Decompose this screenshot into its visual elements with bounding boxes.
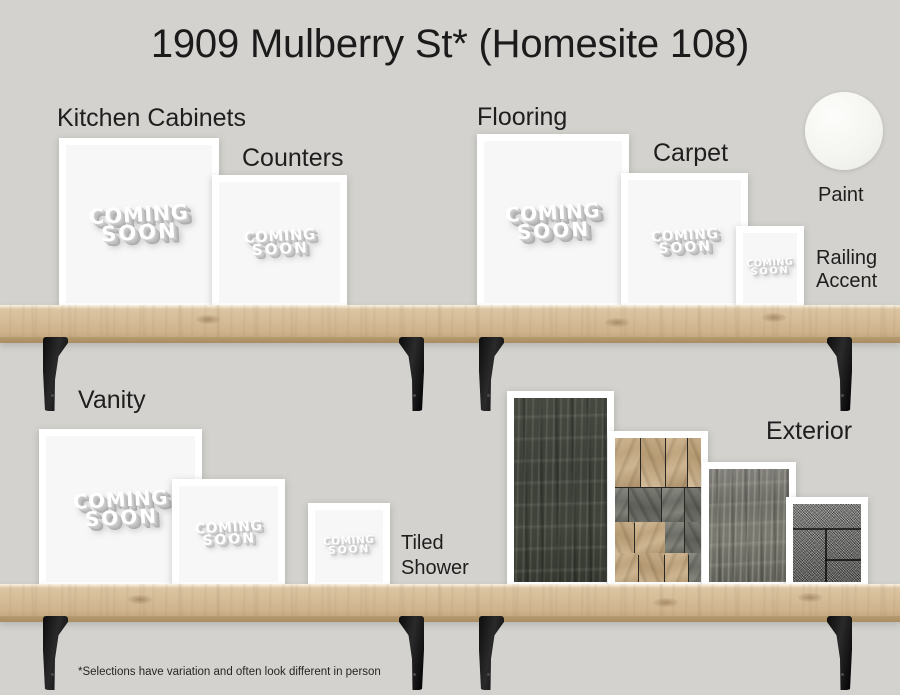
coming-soon-line-2: SOON <box>747 267 794 278</box>
bracket-screw <box>413 673 416 676</box>
label-carpet: Carpet <box>653 140 728 166</box>
swatch-exterior-roof-shingle-fill <box>793 504 861 582</box>
bracket-arm <box>399 337 424 411</box>
bracket-arm <box>43 337 68 411</box>
wood-knot <box>762 313 786 322</box>
swatch-counters-fill: COMING SOON <box>219 182 340 303</box>
label-vanity: Vanity <box>78 387 146 413</box>
swatch-carpet-fill: COMING SOON <box>628 180 741 303</box>
swatch-carpet[interactable]: COMING SOON <box>621 173 748 310</box>
bracket-arm <box>43 616 68 690</box>
bracket-arm <box>479 337 504 411</box>
bracket-screw <box>413 394 416 397</box>
bracket-arm <box>827 337 852 411</box>
stone-course <box>615 553 701 582</box>
swatch-exterior-stone-veneer[interactable] <box>608 431 708 589</box>
swatch-railing-accent[interactable]: COMING SOON <box>736 226 804 310</box>
wood-knot <box>798 593 822 602</box>
page-title: 1909 Mulberry St* (Homesite 108) <box>0 22 900 67</box>
selection-board: 1909 Mulberry St* (Homesite 108) Kitchen… <box>0 0 900 695</box>
coming-soon-line-2: SOON <box>323 545 375 557</box>
bracket-screw <box>487 394 490 397</box>
shelf-bracket <box>43 337 68 411</box>
coming-soon-line-2: SOON <box>195 532 263 548</box>
bracket-screw <box>51 394 54 397</box>
swatch-tiled-shower-fill: COMING SOON <box>315 510 383 582</box>
coming-soon-badge: COMING SOON <box>650 227 719 255</box>
coming-soon-badge: COMING SOON <box>88 203 190 245</box>
shelf-bracket <box>479 337 504 411</box>
shelf-plank <box>0 584 900 622</box>
plank-front-edge <box>0 616 900 622</box>
coming-soon-badge: COMING SOON <box>72 489 169 529</box>
label-paint: Paint <box>818 185 864 206</box>
bracket-screw <box>487 673 490 676</box>
shelf-bracket <box>43 616 68 690</box>
coming-soon-badge: COMING SOON <box>505 202 602 242</box>
texture-stone-veneer <box>615 438 701 582</box>
bracket-screw <box>841 673 844 676</box>
shelf-bracket <box>399 337 424 411</box>
shelf-bracket <box>827 616 852 690</box>
stone-course <box>615 438 701 487</box>
stone-course <box>615 522 701 555</box>
coming-soon-badge: COMING SOON <box>243 227 316 257</box>
label-railing-accent-line1: Railing <box>816 248 877 269</box>
shelf-bracket <box>399 616 424 690</box>
wood-knot <box>654 598 678 607</box>
shelf-bracket <box>479 616 504 690</box>
label-flooring: Flooring <box>477 104 567 130</box>
coming-soon-line-2: SOON <box>243 241 316 258</box>
swatch-vanity-counter-fill: COMING SOON <box>179 486 278 582</box>
texture-asphalt-shingle <box>793 504 861 582</box>
wood-knot <box>605 318 629 327</box>
label-counters: Counters <box>242 145 343 171</box>
label-exterior: Exterior <box>766 418 852 444</box>
disclaimer-footnote: *Selections have variation and often loo… <box>78 666 381 678</box>
swatch-kitchen-cabinets-fill: COMING SOON <box>66 145 212 303</box>
bracket-arm <box>479 616 504 690</box>
swatch-exterior-stone-veneer-fill <box>615 438 701 582</box>
swatch-exterior-roof-shingle[interactable] <box>786 497 868 589</box>
swatch-exterior-siding-gray-fill <box>709 469 789 582</box>
bracket-arm <box>827 616 852 690</box>
swatch-counters[interactable]: COMING SOON <box>212 175 347 310</box>
swatch-railing-accent-fill: COMING SOON <box>743 233 797 303</box>
swatch-exterior-siding-dark-fill <box>514 398 607 582</box>
wood-knot <box>128 595 152 604</box>
swatch-flooring[interactable]: COMING SOON <box>477 134 629 310</box>
label-tiled-shower-line2: Shower <box>401 558 469 579</box>
shelf-plank <box>0 305 900 343</box>
swatch-exterior-siding-gray[interactable] <box>702 462 796 589</box>
coming-soon-badge: COMING SOON <box>194 520 263 548</box>
label-kitchen-cabinets: Kitchen Cabinets <box>57 105 246 131</box>
swatch-paint[interactable] <box>805 92 883 170</box>
coming-soon-line-2: SOON <box>73 507 169 530</box>
swatch-tiled-shower[interactable]: COMING SOON <box>308 503 390 589</box>
swatch-kitchen-cabinets[interactable]: COMING SOON <box>59 138 219 310</box>
texture-gray-siding <box>709 469 789 582</box>
swatch-exterior-siding-dark[interactable] <box>507 391 614 589</box>
coming-soon-badge: COMING SOON <box>746 258 794 277</box>
wood-knot <box>196 315 220 324</box>
label-railing-accent-line2: Accent <box>816 271 877 292</box>
coming-soon-line-2: SOON <box>89 221 190 245</box>
stone-course <box>615 488 701 523</box>
bracket-screw <box>51 673 54 676</box>
texture-dark-siding <box>514 398 607 582</box>
swatch-vanity-counter[interactable]: COMING SOON <box>172 479 285 589</box>
bracket-arm <box>399 616 424 690</box>
bracket-screw <box>841 394 844 397</box>
shelf-bracket <box>827 337 852 411</box>
plank-front-edge <box>0 337 900 343</box>
swatch-flooring-fill: COMING SOON <box>484 141 622 303</box>
shingle-shading <box>793 504 861 582</box>
label-tiled-shower-line1: Tiled <box>401 533 444 554</box>
coming-soon-badge: COMING SOON <box>323 535 375 556</box>
coming-soon-line-2: SOON <box>651 240 719 256</box>
coming-soon-line-2: SOON <box>505 220 601 243</box>
